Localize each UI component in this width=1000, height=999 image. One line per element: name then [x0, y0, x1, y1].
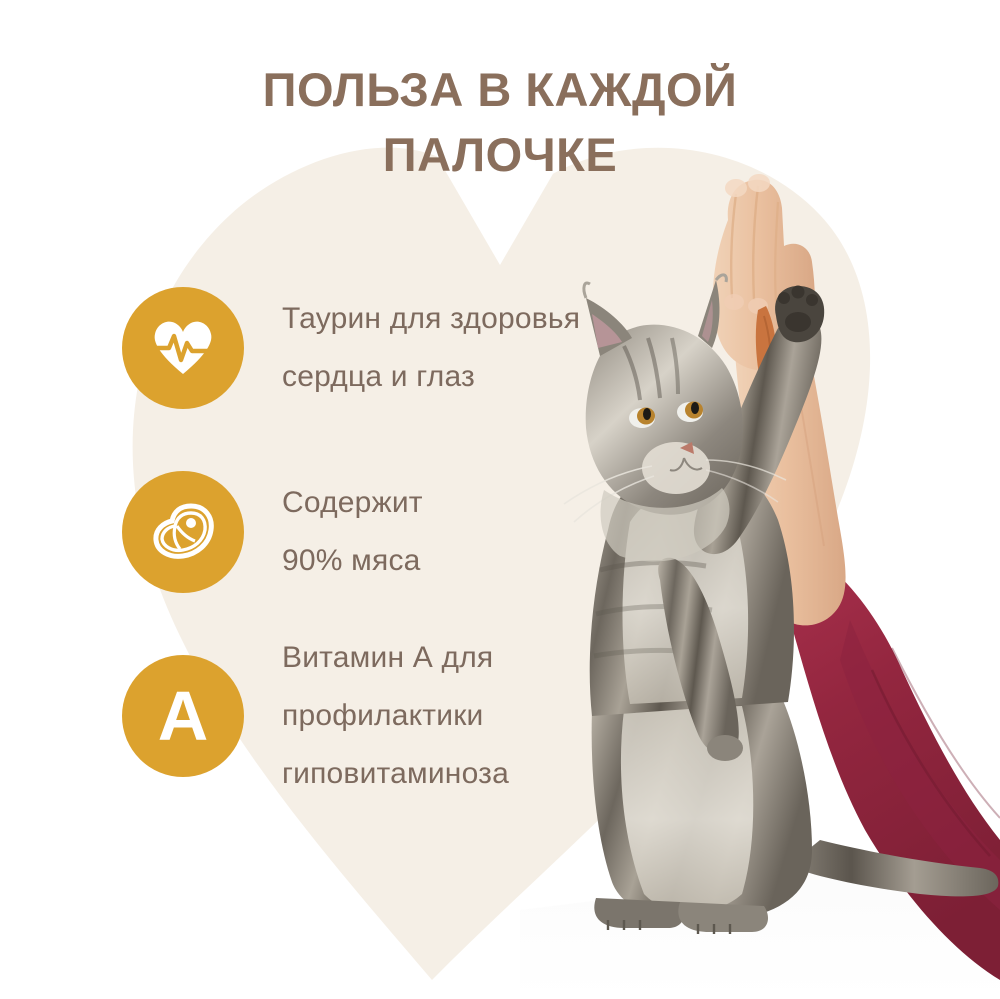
vitamin-a-icon: A — [122, 655, 244, 777]
heart-pulse-icon — [122, 287, 244, 409]
meat-steak-icon — [122, 471, 244, 593]
page-title: ПОЛЬЗА В КАЖДОЙ ПАЛОЧКЕ — [120, 58, 880, 188]
benefit-item-vitamin-a: A Витамин А для профилактики гиповитамин… — [122, 655, 642, 777]
benefit-text-vitamin-a: Витамин А для профилактики гиповитаминоз… — [282, 629, 509, 803]
benefit-item-meat: Содержит 90% мяса — [122, 471, 642, 593]
vitamin-a-letter: A — [158, 681, 209, 751]
benefit-text-taurine: Таурин для здоровья сердца и глаз — [282, 290, 580, 406]
benefit-item-taurine: Таурин для здоровья сердца и глаз — [122, 287, 642, 409]
product-benefit-banner: ПОЛЬЗА В КАЖДОЙ ПАЛОЧКЕ Таурин для здоро… — [0, 0, 1000, 999]
benefit-text-meat: Содержит 90% мяса — [282, 474, 423, 590]
benefit-list: Таурин для здоровья сердца и глаз Содерж… — [122, 287, 642, 839]
